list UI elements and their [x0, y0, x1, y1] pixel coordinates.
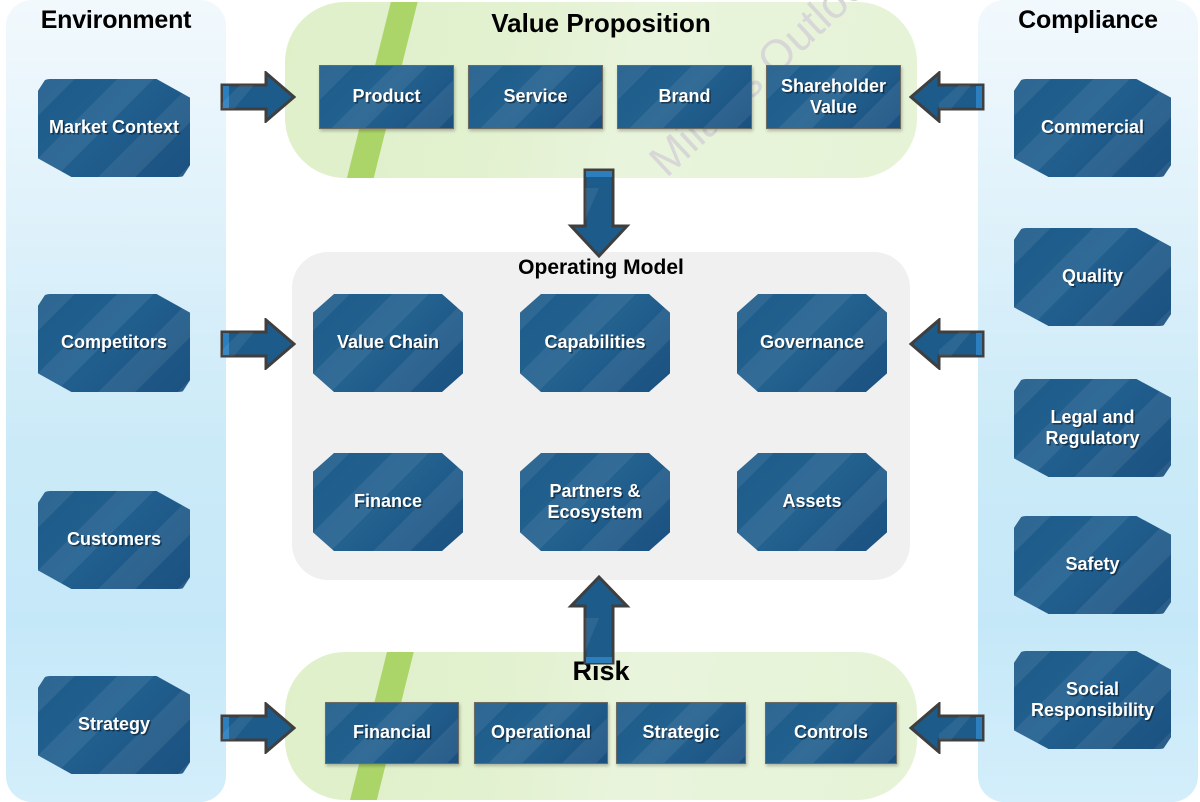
node-safety-label: Safety — [1059, 554, 1125, 575]
node-assets-label: Assets — [776, 491, 847, 512]
node-quality-label: Quality — [1056, 266, 1129, 287]
node-finance-label: Finance — [348, 491, 428, 512]
node-legal-and-regulatory[interactable]: Legal and Regulatory — [1014, 379, 1171, 477]
node-capabilities-label: Capabilities — [538, 332, 651, 353]
arrow-compliance-to-operating-model — [909, 318, 985, 370]
node-partners-ecosystem-label: Partners & Ecosystem — [520, 481, 670, 523]
node-product[interactable]: Product — [319, 65, 454, 129]
operating-model-title: Operating Model — [292, 256, 910, 280]
environment-panel-title: Environment — [6, 6, 226, 35]
node-brand[interactable]: Brand — [617, 65, 752, 129]
arrow-risk-to-operating-model — [556, 574, 642, 666]
arrow-environment-to-value-proposition — [220, 71, 296, 123]
node-market-context-label: Market Context — [43, 117, 185, 138]
node-capabilities[interactable]: Capabilities — [520, 294, 670, 392]
node-strategic-label: Strategic — [636, 722, 725, 743]
node-competitors-label: Competitors — [55, 332, 173, 353]
arrow-environment-to-operating-model — [220, 318, 296, 370]
node-competitors[interactable]: Competitors — [38, 294, 190, 392]
diagram-canvas: Environment Market Context Competitors C… — [0, 0, 1200, 802]
arrow-compliance-to-value-proposition — [909, 71, 985, 123]
node-controls-label: Controls — [788, 722, 874, 743]
node-assets[interactable]: Assets — [737, 453, 887, 551]
node-governance[interactable]: Governance — [737, 294, 887, 392]
arrow-environment-to-risk — [220, 702, 296, 754]
node-governance-label: Governance — [754, 332, 870, 353]
node-financial-label: Financial — [347, 722, 437, 743]
node-shareholder-value[interactable]: Shareholder Value — [766, 65, 901, 129]
node-legal-and-regulatory-label: Legal and Regulatory — [1014, 407, 1171, 449]
node-brand-label: Brand — [652, 86, 716, 107]
node-value-chain[interactable]: Value Chain — [313, 294, 463, 392]
node-quality[interactable]: Quality — [1014, 228, 1171, 326]
node-operational[interactable]: Operational — [474, 702, 608, 764]
arrow-value-proposition-to-operating-model — [556, 168, 642, 258]
node-controls[interactable]: Controls — [765, 702, 897, 764]
node-shareholder-value-label: Shareholder Value — [767, 76, 900, 118]
node-finance[interactable]: Finance — [313, 453, 463, 551]
value-proposition-title: Value Proposition — [285, 8, 917, 39]
node-value-chain-label: Value Chain — [331, 332, 445, 353]
node-strategy[interactable]: Strategy — [38, 676, 190, 774]
node-safety[interactable]: Safety — [1014, 516, 1171, 614]
node-product-label: Product — [346, 86, 426, 107]
node-service-label: Service — [497, 86, 573, 107]
node-market-context[interactable]: Market Context — [38, 79, 190, 177]
arrow-compliance-to-risk — [909, 702, 985, 754]
node-partners-ecosystem[interactable]: Partners & Ecosystem — [520, 453, 670, 551]
node-commercial[interactable]: Commercial — [1014, 79, 1171, 177]
compliance-panel-title: Compliance — [978, 6, 1198, 35]
node-social-responsibility[interactable]: Social Responsibility — [1014, 651, 1171, 749]
node-operational-label: Operational — [485, 722, 597, 743]
node-social-responsibility-label: Social Responsibility — [1014, 679, 1171, 721]
node-customers-label: Customers — [61, 529, 167, 550]
node-strategic[interactable]: Strategic — [616, 702, 746, 764]
node-customers[interactable]: Customers — [38, 491, 190, 589]
node-commercial-label: Commercial — [1035, 117, 1150, 138]
node-strategy-label: Strategy — [72, 714, 156, 735]
node-service[interactable]: Service — [468, 65, 603, 129]
node-financial[interactable]: Financial — [325, 702, 459, 764]
